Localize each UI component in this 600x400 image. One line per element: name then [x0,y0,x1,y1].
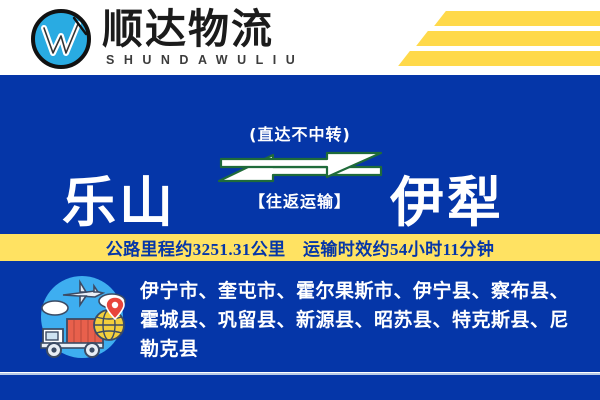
distance-duration-bar: 公路里程约3251.31公里 运输时效约54小时11分钟 [0,232,600,263]
logistics-truck-globe-icon [33,275,131,359]
decorative-stripes [330,0,600,75]
stripe-1 [434,11,600,26]
footer-strip [0,375,600,400]
coverage-section: 伊宁市、奎屯市、霍尔果斯市、伊宁县、察布县、霍城县、巩留县、新源县、昭苏县、特克… [0,263,600,372]
coverage-areas-text: 伊宁市、奎屯市、霍尔果斯市、伊宁县、察布县、霍城县、巩留县、新源县、昭苏县、特克… [140,277,580,364]
brand-name-en: SHUNDAWULIU [106,53,304,67]
route-note-direct: (直达不中转) [0,121,600,145]
brand-header: 顺达物流 SHUNDAWULIU [0,0,600,75]
double-headed-arrow-icon [215,145,385,187]
swoosh-circle-logo-icon [30,8,92,70]
route-section: 乐山 (直达不中转) 【往返运输】 伊犁 [0,75,600,232]
route-note-roundtrip: 【往返运输】 [0,188,600,212]
distance-duration-text: 公路里程约3251.31公里 运输时效约54小时11分钟 [106,235,495,260]
logistics-route-banner: 顺达物流 SHUNDAWULIU 乐山 (直达不中转) 【往返运输】 伊犁 公路… [0,0,600,400]
destination-city: 伊犁 [390,176,504,230]
stripe-3 [398,51,600,66]
brand-name-zh: 顺达物流 [102,6,274,52]
stripe-2 [416,31,600,46]
